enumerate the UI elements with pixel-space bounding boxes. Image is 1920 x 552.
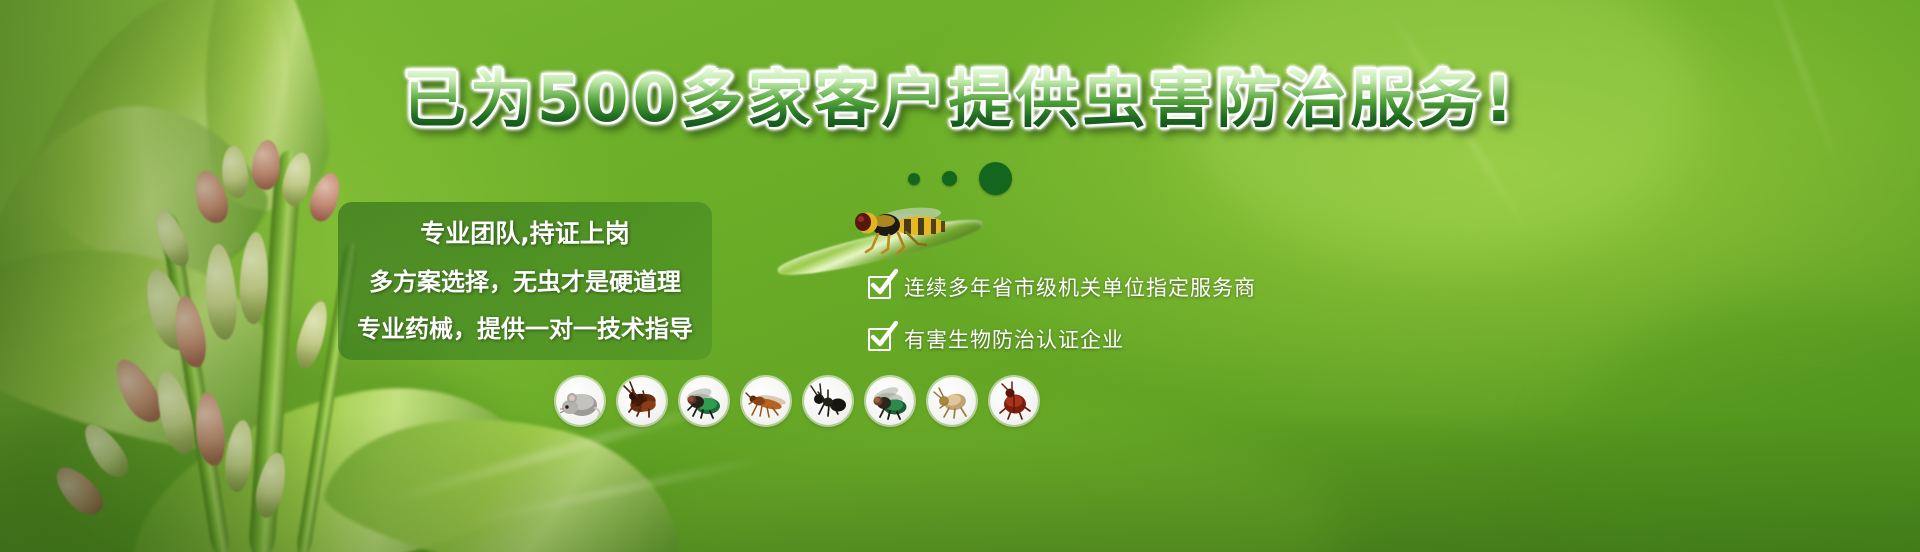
selling-point-line-1: 专业团队,持证上岗 bbox=[420, 214, 630, 250]
pest-icon-bedbug[interactable] bbox=[990, 377, 1038, 425]
checkbox-checked-icon bbox=[868, 276, 891, 299]
ant-icon bbox=[807, 380, 849, 422]
bokeh-blob bbox=[1560, 300, 1920, 552]
pest-icon-ant[interactable] bbox=[804, 377, 852, 425]
pest-icon-housefly[interactable] bbox=[866, 377, 914, 425]
selling-point-line-2: 多方案选择，无虫才是硬道理 bbox=[369, 262, 681, 297]
pest-icon-blowfly[interactable] bbox=[680, 377, 728, 425]
selling-points-panel: 专业团队,持证上岗 多方案选择，无虫才是硬道理 专业药械，提供一对一技术指导 bbox=[338, 202, 712, 360]
checkbox-checked-icon bbox=[868, 328, 891, 351]
blowfly-icon bbox=[683, 380, 725, 422]
checklist-item-label: 有害生物防治认证企业 bbox=[904, 324, 1124, 354]
mouse-icon bbox=[559, 380, 601, 422]
page-title: 已为500多家客户提供虫害防治服务! bbox=[0, 68, 1920, 131]
bedbug-icon bbox=[993, 380, 1035, 422]
housefly-icon bbox=[869, 380, 911, 422]
decor-dot-medium bbox=[942, 171, 957, 186]
pest-types-row bbox=[556, 377, 1038, 425]
decor-dot-small bbox=[908, 173, 920, 185]
decor-dot-large bbox=[979, 162, 1012, 195]
cockroach-icon bbox=[621, 380, 663, 422]
checklist-item-label: 连续多年省市级机关单位指定服务商 bbox=[904, 272, 1256, 302]
decor-dots bbox=[908, 162, 1012, 195]
bokeh-blob bbox=[640, 420, 1340, 552]
flea-icon bbox=[931, 380, 973, 422]
pest-icon-mouse[interactable] bbox=[556, 377, 604, 425]
pest-icon-flea[interactable] bbox=[928, 377, 976, 425]
checklist-item: 有害生物防治认证企业 bbox=[868, 324, 1256, 354]
pest-control-banner: 已为500多家客户提供虫害防治服务! 专业团队,持证上岗 多方案选择，无虫才是硬… bbox=[0, 0, 1920, 552]
selling-point-line-3: 专业药械，提供一对一技术指导 bbox=[357, 309, 693, 344]
hoverfly-icon bbox=[848, 202, 956, 254]
pest-icon-mosquito[interactable] bbox=[742, 377, 790, 425]
certification-checklist: 连续多年省市级机关单位指定服务商 有害生物防治认证企业 bbox=[868, 272, 1256, 354]
checklist-item: 连续多年省市级机关单位指定服务商 bbox=[868, 272, 1256, 302]
pest-icon-cockroach[interactable] bbox=[618, 377, 666, 425]
mosquito-icon bbox=[745, 380, 787, 422]
